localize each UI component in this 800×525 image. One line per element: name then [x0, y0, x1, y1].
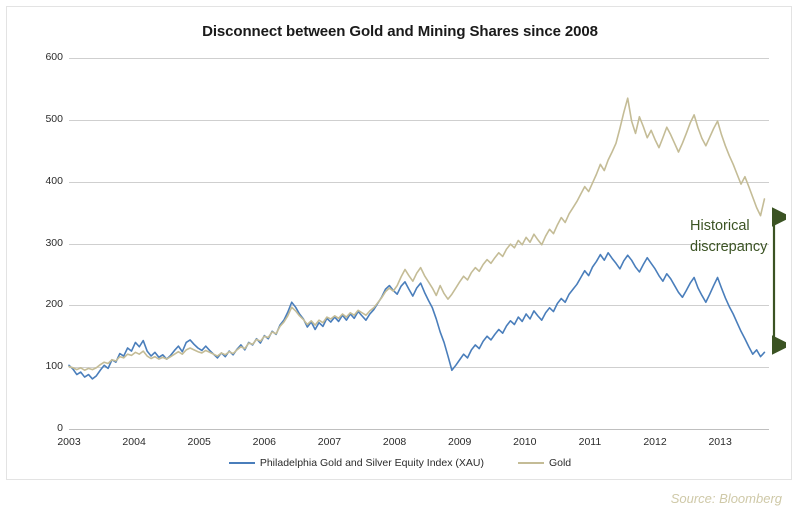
x-tick-2012: 2012 — [620, 436, 690, 448]
discrepancy-arrow-icon — [762, 207, 786, 355]
chart-frame: Disconnect between Gold and Mining Share… — [6, 6, 792, 480]
y-tick-600: 600 — [17, 51, 63, 63]
legend-label: Philadelphia Gold and Silver Equity Inde… — [260, 457, 484, 469]
x-tick-2003: 2003 — [34, 436, 104, 448]
y-tick-100: 100 — [17, 360, 63, 372]
x-tick-2009: 2009 — [425, 436, 495, 448]
y-tick-400: 400 — [17, 175, 63, 187]
source-credit: Source: Bloomberg — [671, 491, 782, 506]
legend-swatch-icon — [229, 462, 255, 465]
legend-item-xau[interactable]: Philadelphia Gold and Silver Equity Inde… — [229, 457, 484, 469]
legend-swatch-icon — [518, 462, 544, 465]
gridline-0 — [69, 429, 769, 430]
y-tick-200: 200 — [17, 298, 63, 310]
x-tick-2008: 2008 — [360, 436, 430, 448]
x-tick-2005: 2005 — [164, 436, 234, 448]
series-line-xau — [69, 253, 764, 379]
x-tick-2013: 2013 — [685, 436, 755, 448]
legend-label: Gold — [549, 457, 571, 469]
x-tick-2007: 2007 — [294, 436, 364, 448]
x-tick-2004: 2004 — [99, 436, 169, 448]
x-tick-2006: 2006 — [229, 436, 299, 448]
legend-item-gold[interactable]: Gold — [518, 457, 571, 469]
y-tick-500: 500 — [17, 113, 63, 125]
series-line-gold — [69, 98, 764, 370]
plot-area: 0100200300400500600 20032004200520062007… — [69, 58, 769, 429]
x-tick-2011: 2011 — [555, 436, 625, 448]
y-tick-300: 300 — [17, 237, 63, 249]
x-tick-2010: 2010 — [490, 436, 560, 448]
chart-legend: Philadelphia Gold and Silver Equity Inde… — [7, 457, 793, 469]
chart-title: Disconnect between Gold and Mining Share… — [7, 23, 793, 40]
y-tick-0: 0 — [17, 422, 63, 434]
series-lines — [69, 58, 769, 429]
